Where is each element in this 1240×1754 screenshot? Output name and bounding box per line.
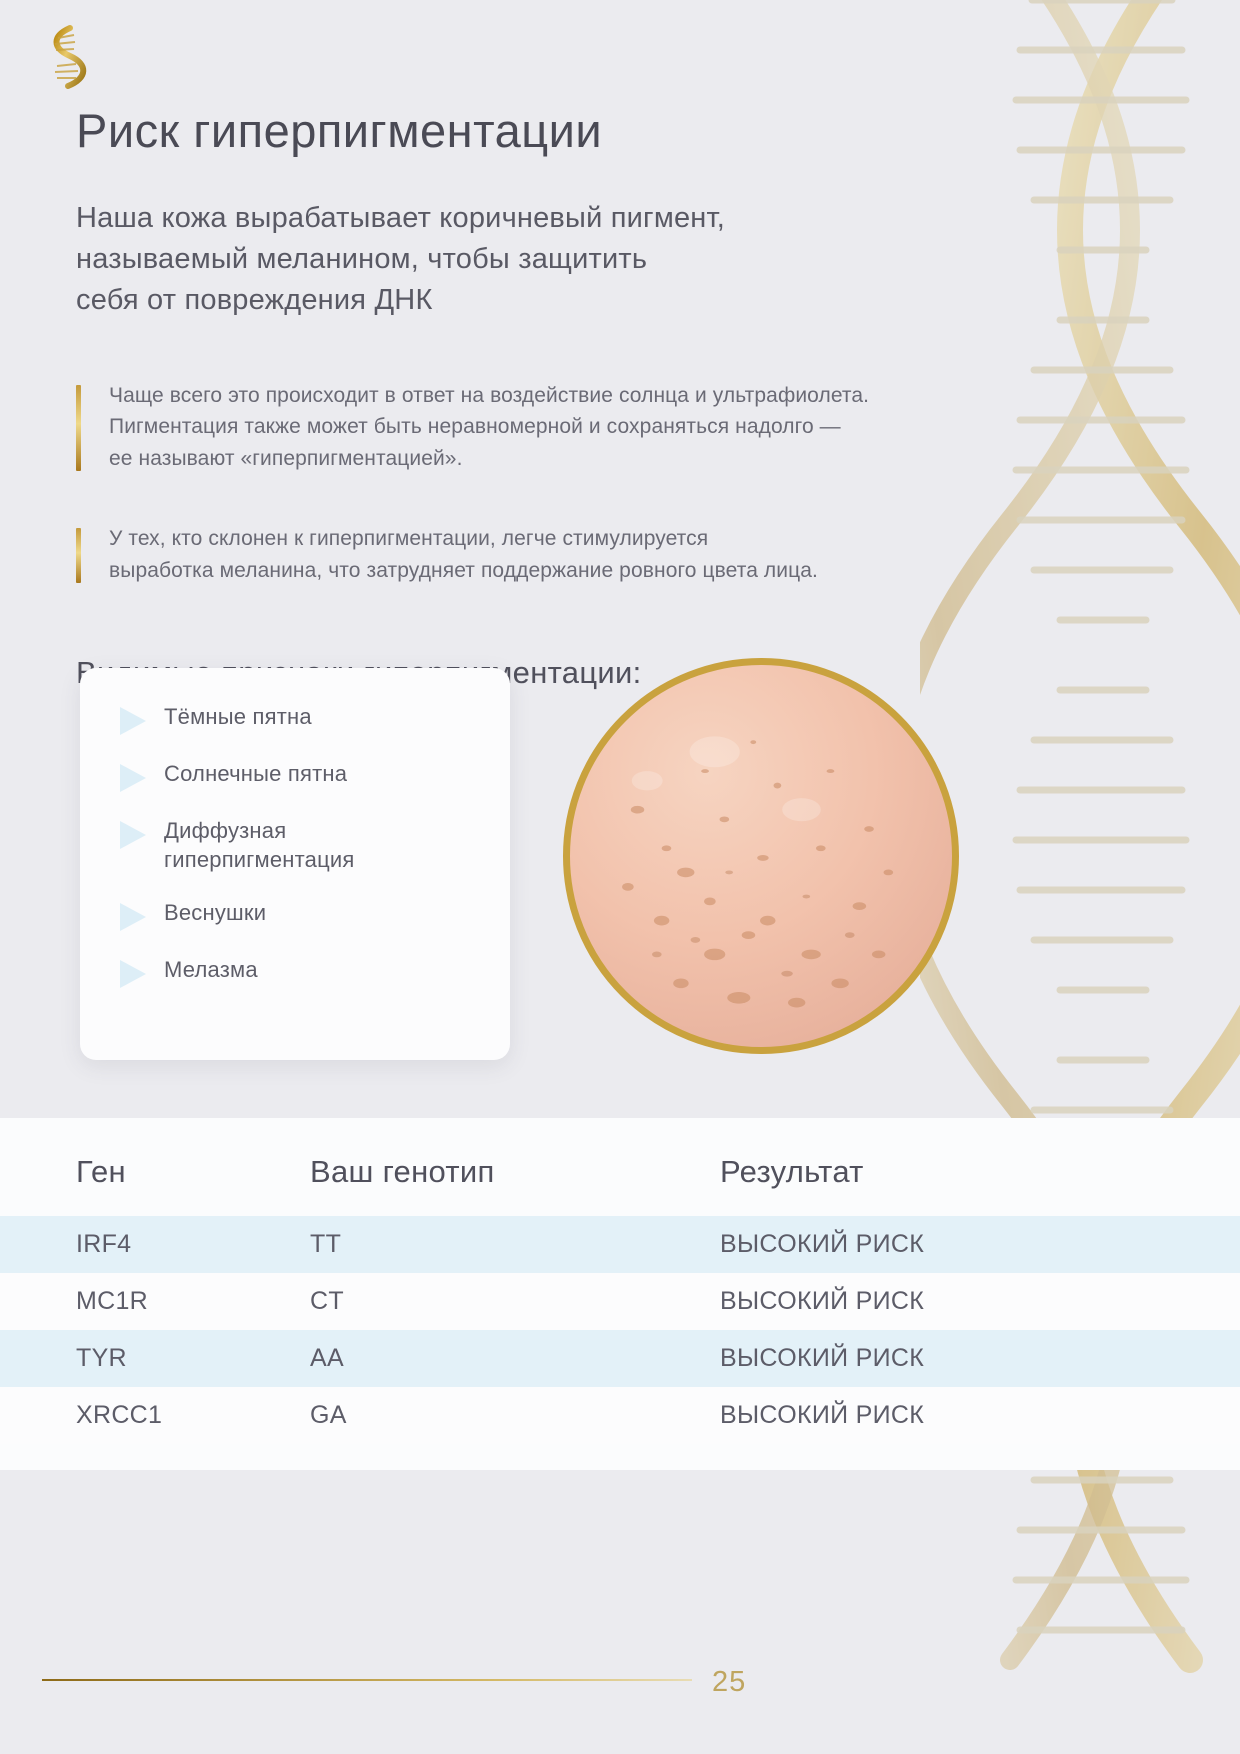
- list-item: Тёмные пятна: [106, 702, 484, 735]
- column-header-genotype: Ваш генотип: [310, 1118, 720, 1216]
- cell-genotype: CT: [310, 1273, 720, 1330]
- cell-gene: XRCC1: [0, 1387, 310, 1444]
- table-row: IRF4 TT ВЫСОКИЙ РИСК: [0, 1216, 1240, 1273]
- visible-signs-card: Тёмные пятна Солнечные пятна Диффузная г…: [80, 668, 510, 1060]
- skin-closeup-photo: [563, 658, 959, 1054]
- sign-label: Тёмные пятна: [164, 702, 312, 731]
- triangle-right-icon: [120, 707, 146, 735]
- gold-accent-bar: [76, 528, 81, 583]
- triangle-right-icon: [120, 821, 146, 849]
- page-title: Риск гиперпигментации: [76, 104, 1076, 158]
- lede-paragraph: Наша кожа вырабатывает коричневый пигмен…: [76, 198, 1076, 322]
- cell-genotype: AA: [310, 1330, 720, 1387]
- table-row: TYR AA ВЫСОКИЙ РИСК: [0, 1330, 1240, 1387]
- cell-result: ВЫСОКИЙ РИСК: [720, 1273, 1240, 1330]
- list-item: Солнечные пятна: [106, 759, 484, 792]
- quote-block: У тех, кто склонен к гиперпигментации, л…: [76, 523, 1076, 587]
- list-item: Диффузная гиперпигментация: [106, 816, 484, 874]
- report-page: Риск гиперпигментации Наша кожа вырабаты…: [0, 0, 1240, 1754]
- list-item: Мелазма: [106, 955, 484, 988]
- cell-genotype: TT: [310, 1216, 720, 1273]
- page-footer: 25: [0, 1554, 1240, 1754]
- quote-text: У тех, кто склонен к гиперпигментации, л…: [109, 523, 1076, 587]
- table-header-row: Ген Ваш генотип Результат: [0, 1118, 1240, 1216]
- footer-divider: [42, 1679, 692, 1681]
- gold-accent-bar: [76, 385, 81, 472]
- triangle-right-icon: [120, 903, 146, 931]
- sign-label: Мелазма: [164, 955, 258, 984]
- cell-genotype: GA: [310, 1387, 720, 1444]
- cell-gene: TYR: [0, 1330, 310, 1387]
- signs-and-photo-row: Тёмные пятна Солнечные пятна Диффузная г…: [76, 668, 1086, 1088]
- genetics-results-table: Ген Ваш генотип Результат IRF4 TT ВЫСОКИ…: [0, 1118, 1240, 1444]
- triangle-right-icon: [120, 764, 146, 792]
- page-content: Риск гиперпигментации Наша кожа вырабаты…: [76, 104, 1076, 691]
- cell-result: ВЫСОКИЙ РИСК: [720, 1387, 1240, 1444]
- triangle-right-icon: [120, 960, 146, 988]
- quote-block: Чаще всего это происходит в ответ на воз…: [76, 380, 1076, 476]
- sign-label: Солнечные пятна: [164, 759, 347, 788]
- list-item: Веснушки: [106, 898, 484, 931]
- cell-gene: IRF4: [0, 1216, 310, 1273]
- cell-result: ВЫСОКИЙ РИСК: [720, 1330, 1240, 1387]
- table-row: XRCC1 GA ВЫСОКИЙ РИСК: [0, 1387, 1240, 1444]
- page-number: 25: [712, 1666, 746, 1699]
- results-table-section: Ген Ваш генотип Результат IRF4 TT ВЫСОКИ…: [0, 1118, 1240, 1470]
- quote-blocks: Чаще всего это происходит в ответ на воз…: [76, 380, 1076, 588]
- table-row: MC1R CT ВЫСОКИЙ РИСК: [0, 1273, 1240, 1330]
- cell-gene: MC1R: [0, 1273, 310, 1330]
- sign-label: Веснушки: [164, 898, 266, 927]
- cell-result: ВЫСОКИЙ РИСК: [720, 1216, 1240, 1273]
- column-header-result: Результат: [720, 1118, 1240, 1216]
- quote-text: Чаще всего это происходит в ответ на воз…: [109, 380, 1076, 476]
- column-header-gene: Ген: [0, 1118, 310, 1216]
- sign-label: Диффузная гиперпигментация: [164, 816, 355, 874]
- dna-helix-icon: [40, 22, 92, 92]
